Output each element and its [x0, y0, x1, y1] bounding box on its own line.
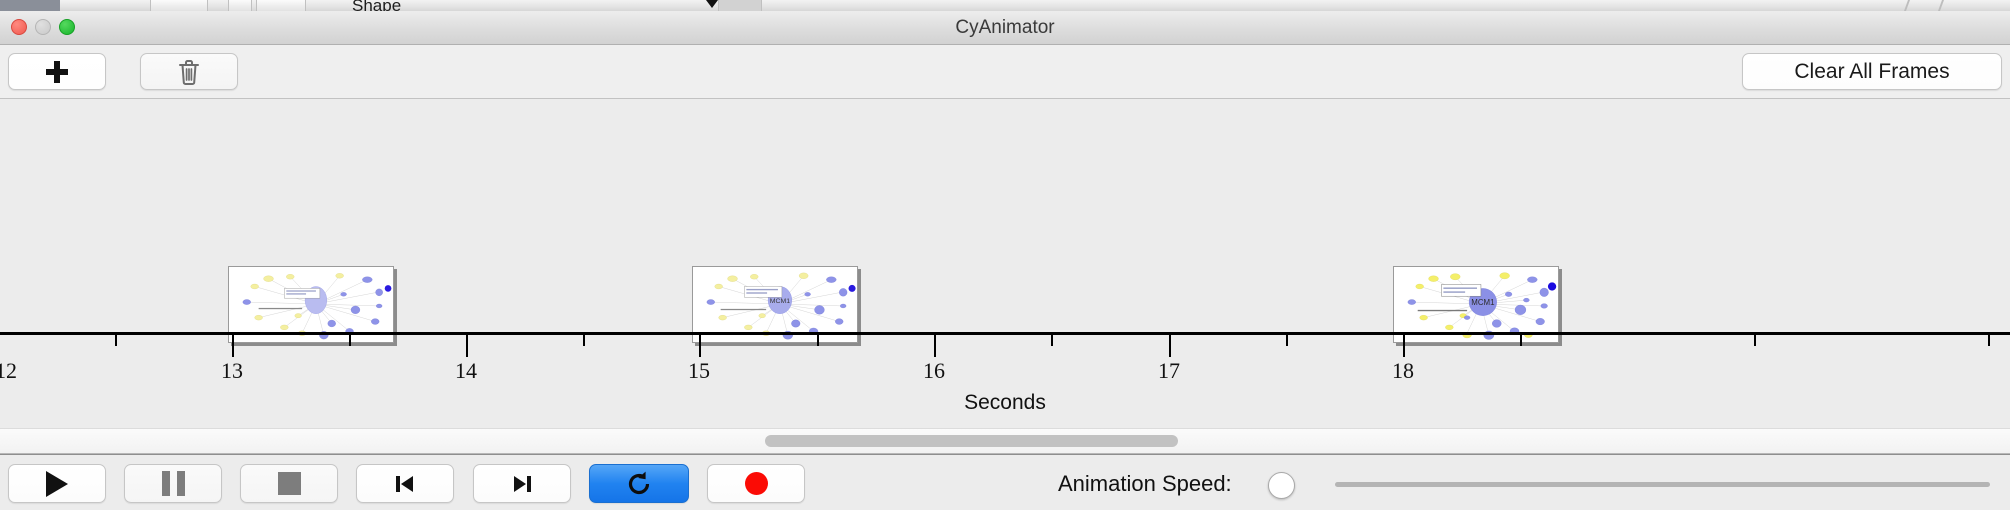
background-tab — [228, 0, 252, 11]
trash-icon — [177, 58, 201, 86]
scrollbar-thumb[interactable] — [765, 435, 1178, 447]
clear-all-frames-button[interactable]: Clear All Frames — [1742, 53, 2002, 90]
axis-label: 16 — [923, 358, 945, 384]
skip-forward-icon — [509, 471, 535, 497]
axis-tick-minor — [817, 335, 819, 346]
stop-button[interactable] — [240, 464, 338, 503]
cyanimator-window: CyAnimator Clear All Frames — [0, 11, 2010, 510]
axis-tick-major — [699, 335, 701, 357]
axis-tick-minor — [1051, 335, 1053, 346]
axis-tick-minor — [583, 335, 585, 346]
next-frame-button[interactable] — [473, 464, 571, 503]
axis-tick-minor — [349, 335, 351, 346]
pause-icon — [162, 471, 185, 496]
background-divider — [1904, 0, 1910, 11]
horizontal-scrollbar[interactable] — [0, 428, 2010, 454]
axis-tick-major — [466, 335, 468, 357]
network-thumbnail: MCM1 — [1394, 267, 1558, 342]
record-icon — [745, 472, 768, 495]
record-button[interactable] — [707, 464, 805, 503]
add-frame-button[interactable] — [8, 53, 106, 90]
axis-title: Seconds — [0, 391, 2010, 415]
axis-label: 17 — [1158, 358, 1180, 384]
plus-icon — [46, 61, 68, 83]
network-thumbnail — [229, 267, 393, 342]
background-tab — [718, 0, 762, 11]
network-graph-svg: MCM1 — [693, 267, 857, 342]
axis-tick-major — [934, 335, 936, 357]
network-graph-svg: MCM1 — [1394, 267, 1558, 342]
axis-tick-minor — [1754, 335, 1756, 346]
axis-tick-minor — [1988, 335, 1990, 346]
timeline-panel[interactable]: MCM1 — [0, 99, 2010, 454]
loop-button[interactable] — [589, 464, 689, 503]
play-icon — [46, 471, 68, 497]
window-title: CyAnimator — [0, 17, 2010, 39]
hub-node-label: MCM1 — [1471, 298, 1494, 307]
stop-icon — [278, 472, 301, 495]
axis-tick-major — [1169, 335, 1171, 357]
axis-tick-major — [1403, 335, 1405, 357]
skip-back-icon — [392, 471, 418, 497]
playback-control-bar: Animation Speed: — [0, 454, 2010, 510]
axis-label: 15 — [688, 358, 710, 384]
network-thumbnail: MCM1 — [693, 267, 857, 342]
axis-tick-minor — [1520, 335, 1522, 346]
previous-frame-button[interactable] — [356, 464, 454, 503]
background-divider — [1938, 0, 1944, 11]
background-caret-icon — [706, 0, 718, 8]
axis-label: 14 — [455, 358, 477, 384]
play-button[interactable] — [8, 464, 106, 503]
background-tab — [150, 0, 208, 11]
background-window-sidebar — [0, 0, 60, 11]
background-tab — [256, 0, 306, 11]
animation-speed-slider-thumb[interactable] — [1268, 472, 1295, 499]
axis-tick-minor — [1286, 335, 1288, 346]
network-graph-svg — [229, 267, 393, 342]
title-bar: CyAnimator — [0, 11, 2010, 45]
animation-speed-slider-track[interactable] — [1335, 482, 1990, 487]
clear-all-frames-label: Clear All Frames — [1794, 60, 1949, 84]
axis-tick-major — [232, 335, 234, 357]
axis-tick-minor — [115, 335, 117, 346]
loop-icon — [625, 470, 653, 498]
axis-label: 13 — [221, 358, 243, 384]
delete-frame-button[interactable] — [140, 53, 238, 90]
timeline-axis — [0, 332, 2010, 335]
hub-node-label: MCM1 — [770, 298, 791, 305]
animation-speed-label: Animation Speed: — [1058, 471, 1232, 497]
axis-label: 18 — [1392, 358, 1414, 384]
toolbar: Clear All Frames — [0, 45, 2010, 99]
pause-button[interactable] — [124, 464, 222, 503]
axis-label: 12 — [0, 358, 17, 384]
